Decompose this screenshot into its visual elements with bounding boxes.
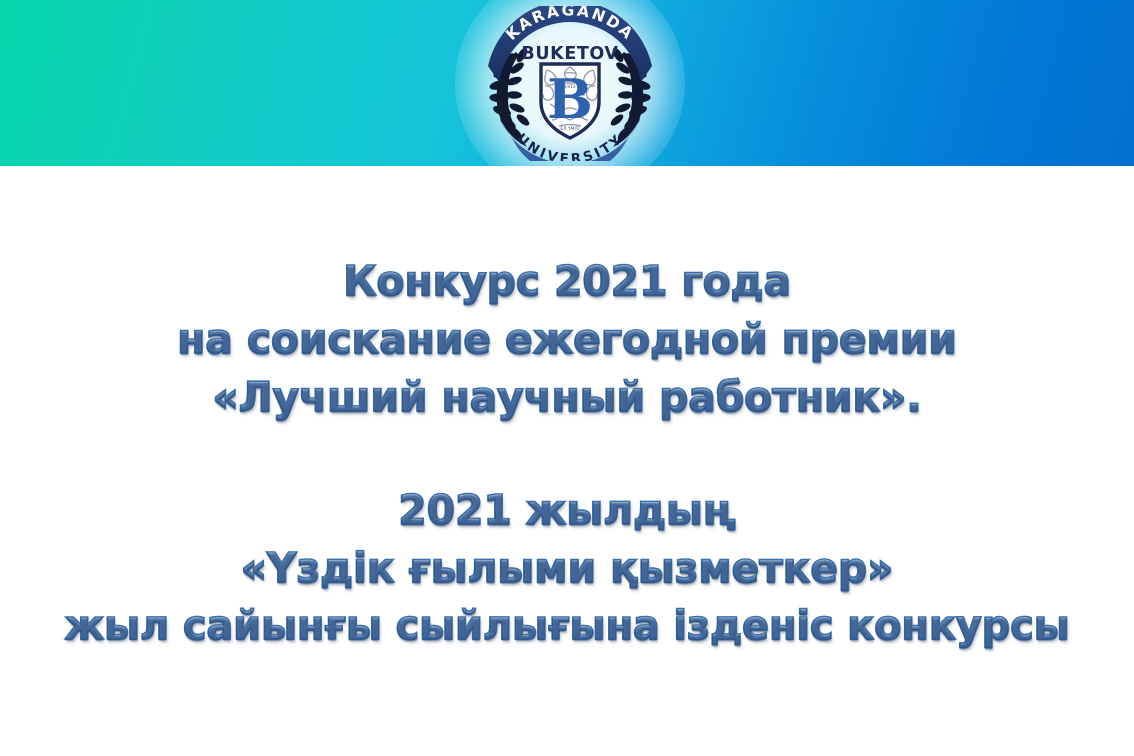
russian-announcement-block: Конкурс 2021 года на соискание ежегодной… xyxy=(0,252,1134,426)
karaganda-buketov-university-crest-icon: KARAGANDA BUKETOV 1972 ЕЛ ҮМ xyxy=(471,6,669,161)
russian-line-3: «Лучший научный работник». xyxy=(0,368,1134,426)
russian-line-2: на соискание ежегодной премии xyxy=(0,310,1134,368)
kazakh-line-3: жыл сайынғы сыйлығына ізденіс конкурсы xyxy=(0,597,1134,655)
header-banner: KARAGANDA BUKETOV 1972 ЕЛ ҮМ xyxy=(0,0,1134,166)
russian-line-1: Конкурс 2021 года xyxy=(0,252,1134,310)
kazakh-line-1: 2021 жылдың xyxy=(0,481,1134,539)
slide-body: Конкурс 2021 года на соискание ежегодной… xyxy=(0,166,1134,756)
kazakh-line-2: «Үздік ғылыми қызметкер» xyxy=(0,539,1134,597)
shield-letter-label: B xyxy=(547,67,593,131)
crest-center-label: BUKETOV xyxy=(521,44,618,64)
kazakh-announcement-block: 2021 жылдың «Үздік ғылыми қызметкер» жыл… xyxy=(0,481,1134,655)
crest-shield: 1972 ЕЛ ҮМІТІ B xyxy=(541,64,599,138)
